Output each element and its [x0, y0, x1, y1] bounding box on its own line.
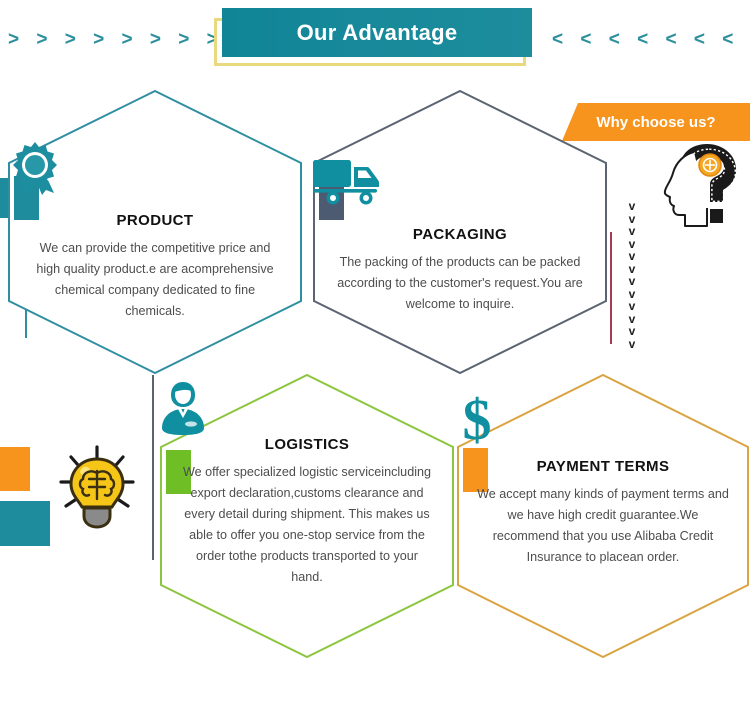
decor-vertical-rule-slate: [152, 375, 154, 560]
card-title-logistics: LOGISTICS: [180, 436, 434, 453]
card-logistics[interactable]: LOGISTICS We offer specialized logistic …: [158, 372, 456, 660]
card-body-product: We can provide the competitive price and…: [28, 238, 282, 322]
why-choose-us-label: Why choose us?: [596, 114, 715, 131]
card-body-payment: We accept many kinds of payment terms an…: [477, 484, 729, 568]
right-chevron-decoration: < < < < < < < < < < < < <: [552, 28, 750, 52]
card-title-packaging: PACKAGING: [333, 226, 587, 243]
infographic-canvas: > > > > > > > > > > > > > Our Advantage …: [0, 0, 750, 703]
card-title-product: PRODUCT: [28, 212, 282, 229]
decor-square-orange: [0, 447, 30, 491]
svg-text:$: $: [463, 387, 492, 452]
award-badge-icon: [6, 140, 304, 196]
card-packaging[interactable]: PACKAGING The packing of the products ca…: [311, 88, 609, 376]
page-title: Our Advantage: [297, 20, 458, 46]
person-agent-icon: [158, 380, 456, 436]
v-chevron-column: vvvvvvvvvvvv: [624, 200, 640, 350]
card-body-logistics: We offer specialized logistic serviceinc…: [180, 462, 434, 588]
card-payment-terms[interactable]: $ PAYMENT TERMS We accept many kinds of …: [455, 372, 750, 660]
question-head-icon: [663, 138, 743, 235]
delivery-truck-icon: [311, 154, 609, 206]
card-title-payment: PAYMENT TERMS: [477, 458, 729, 475]
decor-square-teal-lower: [0, 501, 50, 546]
decor-vertical-rule-maroon: [610, 232, 612, 344]
header-banner: Our Advantage: [222, 8, 532, 57]
lightbulb-brain-icon: [45, 435, 150, 545]
dollar-sign-icon: $: [455, 392, 750, 448]
card-product[interactable]: PRODUCT We can provide the competitive p…: [6, 88, 304, 376]
card-body-packaging: The packing of the products can be packe…: [333, 252, 587, 315]
